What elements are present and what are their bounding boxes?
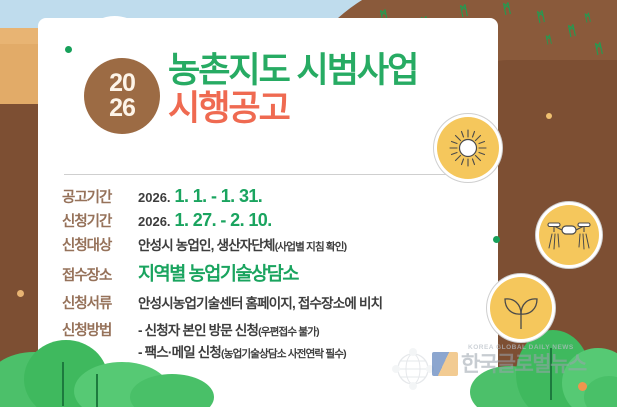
info-row: 공고기간 2026. 1. 1. - 1. 31. [62,186,482,207]
info-row-label: 접수장소 [62,264,138,285]
method-row-label: 신청방법 [62,319,138,340]
year-badge: 20 26 [84,58,160,134]
title-line-2: 시행공고 [168,90,568,128]
info-row: 접수장소 지역별 농업기술상담소 [62,260,482,286]
info-row-note: (사업별 지침 확인) [275,239,347,254]
bush-stem [62,362,64,406]
info-row: 신청대상 안성시 농업인, 생산자단체 (사업별 지침 확인) [62,234,482,255]
sprout-plant-icon [490,277,552,339]
info-row-highlight: 1. 27. - 2. 10. [175,210,272,231]
info-row-highlight: 지역별 농업기술상담소 [138,260,298,286]
info-row-label: 신청서류 [62,292,138,313]
info-row-highlight: 1. 1. - 1. 31. [175,186,263,207]
globe-icon [390,346,436,392]
year-badge-top: 20 [109,71,135,97]
bush-stem [96,374,98,407]
poster-title: 농촌지도 시범사업 시행공고 [168,52,568,128]
info-row-label: 신청기간 [62,210,138,231]
info-row-prefix: 2026. [138,190,171,205]
sun-icon [437,117,499,179]
info-row-label: 신청대상 [62,234,138,255]
method-line-1: - 신청자 본인 방문 신청 [138,319,258,339]
info-row: 신청기간 2026. 1. 27. - 2. 10. [62,210,482,231]
poster-canvas: ᛗ ᛗ ᛗ ᛗ ᛗ ᛗ ᛗ ᛗ ᛗ ᛗ 20 26 농촌지도 시범사업 시행공고… [0,0,617,407]
title-line-1: 농촌지도 시범사업 [168,52,568,90]
decor-dot-green [65,46,72,53]
watermark-subtitle: KOREA GLOBAL DAILY NEWS [468,344,574,351]
sprout-icon-glyph [497,284,545,332]
decor-dot-yellow [17,290,24,297]
bush-stem [550,348,552,400]
berry-dot [578,382,587,391]
info-row-value: 안성시 농업인, 생산자단체 [138,234,275,254]
sun-icon-glyph [446,126,490,170]
method-row: 신청방법 - 신청자 본인 방문 신청 (우편접수 불가) [62,319,482,340]
year-badge-bottom: 26 [109,96,135,122]
info-list: 공고기간 2026. 1. 1. - 1. 31. 신청기간 2026. 1. … [62,186,482,361]
info-row-prefix: 2026. [138,214,171,229]
method-line-2-note: (농업기술상담소 사전연락 필수) [221,346,346,361]
info-row: 신청서류 안성시농업기술센터 홈페이지, 접수장소에 비치 [62,292,482,313]
drone-icon-glyph [546,214,592,256]
header-divider [64,174,454,175]
info-row-label: 공고기간 [62,186,138,207]
drone-icon [539,205,599,265]
method-line-1-note: (우편접수 불가) [258,324,319,339]
method-line-2: - 팩스·메일 신청 [138,341,221,361]
info-row-value: 안성시농업기술센터 홈페이지, 접수장소에 비치 [138,292,382,312]
decor-dot-green [493,236,500,243]
